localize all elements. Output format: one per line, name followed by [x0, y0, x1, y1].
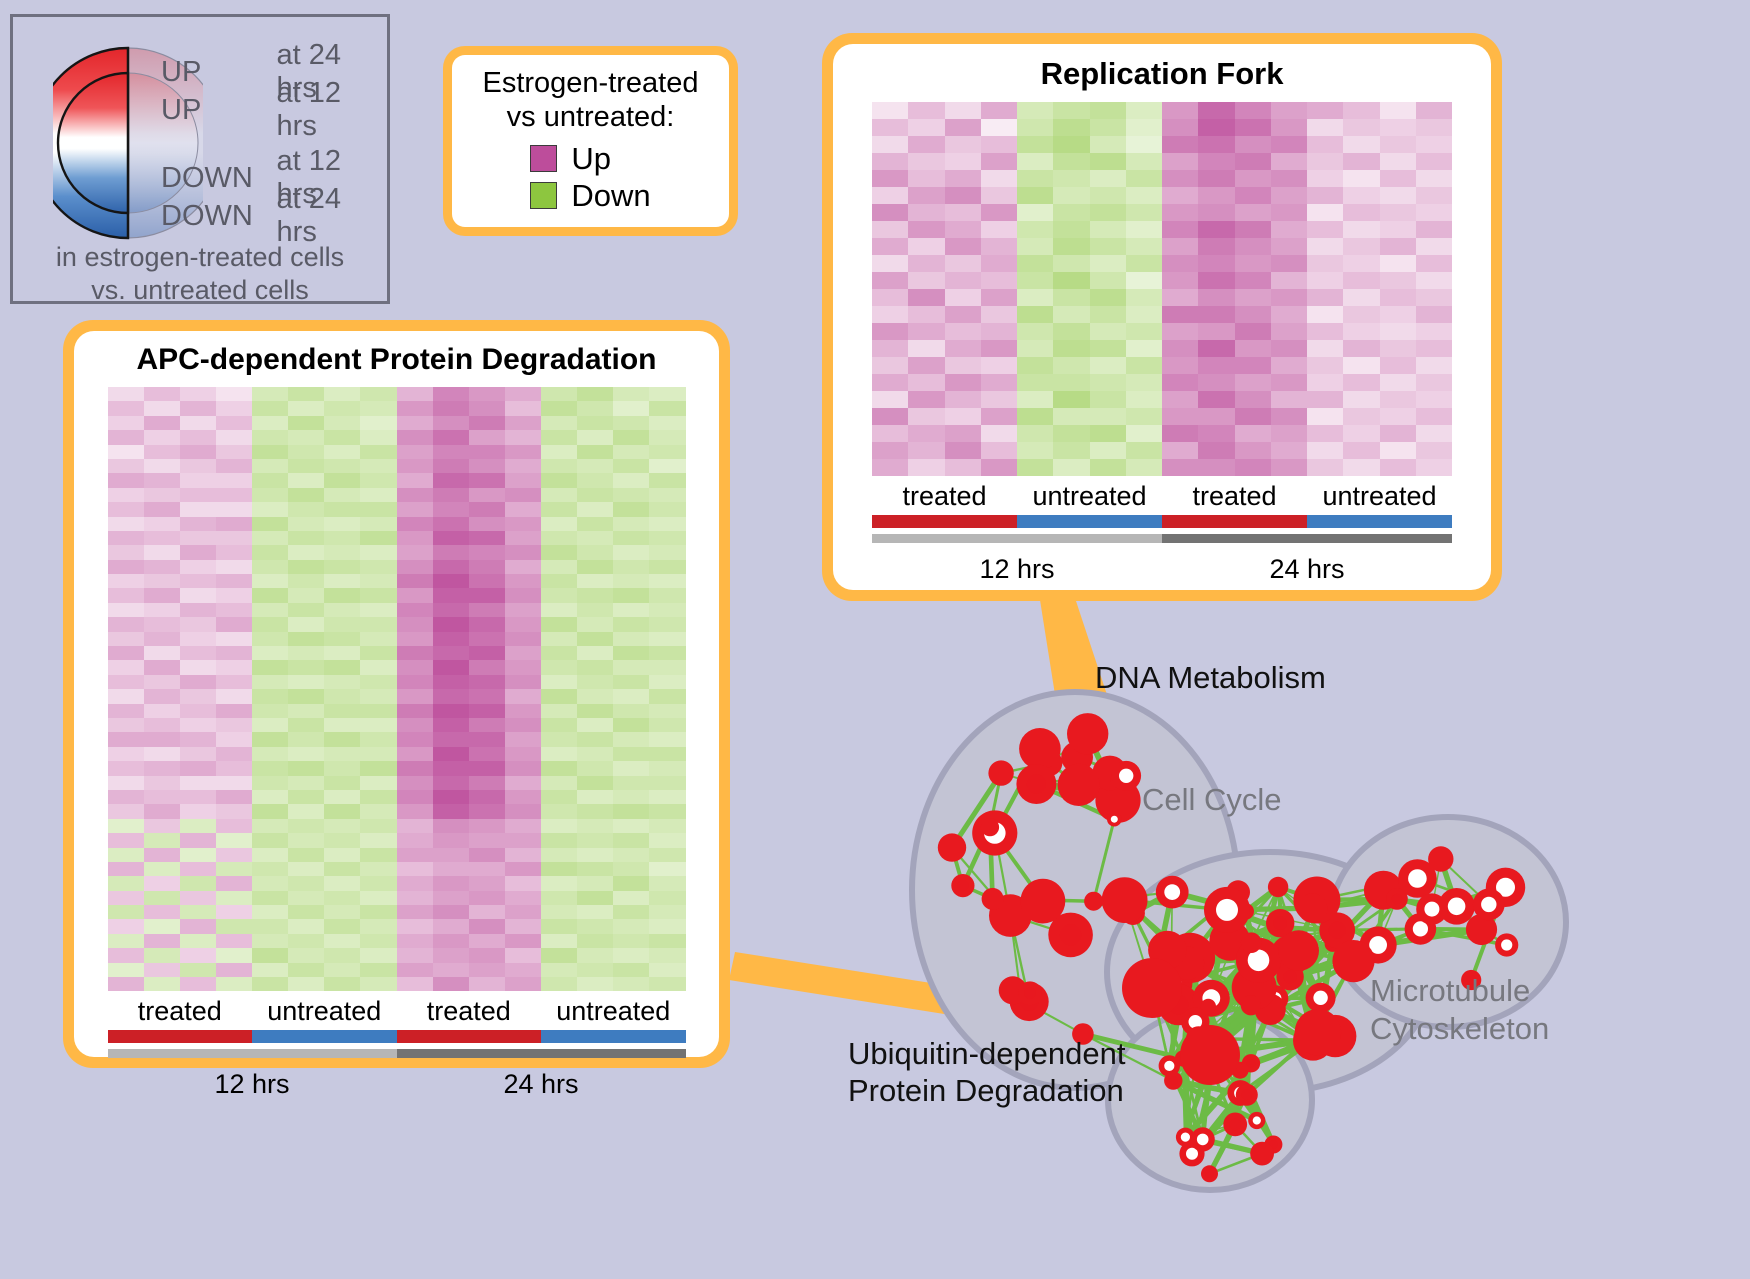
network-node[interactable] [938, 833, 966, 861]
heatmap-cell [469, 459, 505, 473]
network-node[interactable] [1084, 892, 1103, 911]
heatmap-cell [505, 545, 541, 559]
heatmap-cell [1307, 323, 1343, 340]
heatmap-cell [108, 848, 144, 862]
network-node[interactable] [1241, 995, 1261, 1015]
heatmap-cell [649, 804, 685, 818]
heatmap-cell [360, 732, 396, 746]
heatmap-cell [1198, 306, 1234, 323]
heatmap-cell [505, 977, 541, 991]
heatmap-cell [433, 603, 469, 617]
heatmap-cell [144, 977, 180, 991]
heatmap-cell [216, 963, 252, 977]
network-node[interactable] [1250, 1142, 1274, 1166]
heatmap-cell [1053, 255, 1089, 272]
heatmap-cell [541, 632, 577, 646]
heatmap-cell [360, 718, 396, 732]
heatmap-cell [469, 977, 505, 991]
heatmap-cell [1416, 391, 1452, 408]
heatmap-cell [1416, 408, 1452, 425]
heatmap-cell [577, 963, 613, 977]
heatmap-cell [613, 862, 649, 876]
heatmap-cell [180, 876, 216, 890]
heatmap-cell [613, 761, 649, 775]
heatmap-cell [324, 790, 360, 804]
heatmap-cell [397, 963, 433, 977]
heatmap-cell [252, 675, 288, 689]
heatmap-cell [397, 891, 433, 905]
heatmap-cell [1380, 119, 1416, 136]
heatmap-cell [144, 689, 180, 703]
heatmap-cell [397, 804, 433, 818]
heatmap-cell [1198, 170, 1234, 187]
heatmap-cell [541, 387, 577, 401]
heatmap-cell [1017, 204, 1053, 221]
heatmap-cell [1271, 374, 1307, 391]
time-label-row: 12 hrs 24 hrs [108, 1064, 686, 1100]
heatmap-cell [397, 776, 433, 790]
heatmap-cell [360, 488, 396, 502]
heatmap-cell [216, 459, 252, 473]
heatmap-cell [108, 473, 144, 487]
heatmap-cell [108, 732, 144, 746]
heatmap-cell [397, 833, 433, 847]
heatmap-cell [541, 977, 577, 991]
heatmap-cell [1053, 374, 1089, 391]
heatmap-cell [216, 747, 252, 761]
heatmap-cell [1416, 204, 1452, 221]
heatmap-cell [1343, 289, 1379, 306]
heatmap-cell [288, 862, 324, 876]
network-node[interactable] [981, 818, 999, 836]
heatmap-cell [541, 531, 577, 545]
group-bar-treated-24 [397, 1030, 542, 1043]
network-node[interactable] [1102, 877, 1148, 923]
heatmap-cell [649, 934, 685, 948]
network-node[interactable] [982, 888, 1004, 910]
cluster-label-ubiquitin-line2: Protein Degradation [848, 1072, 1126, 1109]
heatmap-cell [1416, 153, 1452, 170]
heatmap-cell [180, 747, 216, 761]
heatmap-cell [469, 517, 505, 531]
heatmap-cell [981, 306, 1017, 323]
heatmap-cell [649, 502, 685, 516]
heatmap-cell [252, 603, 288, 617]
heatmap-cell [649, 905, 685, 919]
heatmap-cell [981, 204, 1017, 221]
heatmap-cell [180, 588, 216, 602]
heatmap-cell [649, 646, 685, 660]
heatmap-cell [1271, 204, 1307, 221]
heatmap-cell [1307, 119, 1343, 136]
heatmap-cell [144, 646, 180, 660]
heatmap-cell [613, 646, 649, 660]
network-node[interactable] [1122, 958, 1182, 1018]
heatmap-cell [541, 675, 577, 689]
heatmap-cell [1343, 306, 1379, 323]
heatmap-cell [433, 977, 469, 991]
network-node-core [1111, 816, 1118, 823]
network-node-core [1313, 991, 1327, 1005]
heatmap-cell [144, 848, 180, 862]
heatmap-cell [1271, 459, 1307, 476]
heatmap-cell [1343, 323, 1379, 340]
heatmap-cell [945, 442, 981, 459]
heatmap-cell [577, 819, 613, 833]
network-node[interactable] [988, 760, 1013, 785]
heatmap-cell [613, 401, 649, 415]
heatmap-cell [324, 632, 360, 646]
heatmap-cell [360, 776, 396, 790]
heatmap-cell [577, 862, 613, 876]
heatmap-cell [216, 934, 252, 948]
heatmap-cell [216, 732, 252, 746]
heatmap-cell [1090, 425, 1126, 442]
heatmap-cell [541, 790, 577, 804]
heatmap-cell [252, 574, 288, 588]
heatmap-cell [397, 459, 433, 473]
heatmap-cell [252, 761, 288, 775]
heatmap-cell [180, 430, 216, 444]
heatmap-cell [108, 876, 144, 890]
heatmap-cell [252, 560, 288, 574]
heatmap-cell [108, 545, 144, 559]
heatmap-cell [288, 761, 324, 775]
heatmap-cell [324, 416, 360, 430]
heatmap-cell [180, 790, 216, 804]
heatmap-cell [1017, 306, 1053, 323]
heatmap-cell [945, 272, 981, 289]
heatmap-cell [1307, 374, 1343, 391]
heatmap-cell [1307, 340, 1343, 357]
heatmap-cell [108, 502, 144, 516]
heatmap-cell [613, 416, 649, 430]
heatmap-cell [1126, 340, 1162, 357]
heatmap-cell [324, 732, 360, 746]
heatmap-cell [577, 545, 613, 559]
group-label-treated-24: treated [397, 991, 542, 1030]
heatmap-cell [324, 704, 360, 718]
heatmap-cell [469, 905, 505, 919]
heatmap-cell [541, 588, 577, 602]
heatmap-cell [108, 675, 144, 689]
heatmap-cell [908, 323, 944, 340]
heatmap-cell [1235, 272, 1271, 289]
heatmap-cell [1053, 204, 1089, 221]
heatmap-cell [577, 517, 613, 531]
heatmap-cell [1126, 391, 1162, 408]
heatmap-cell [144, 617, 180, 631]
group-bar-untreated-12 [252, 1030, 397, 1043]
time-label-24hrs: 24 hrs [397, 1064, 686, 1100]
heatmap-cell [649, 848, 685, 862]
heatmap-cell [216, 473, 252, 487]
panel-replication-fork: Replication Fork treated untreated treat… [822, 33, 1502, 601]
heatmap-cell [613, 445, 649, 459]
colorbar-direction: UP [161, 94, 277, 127]
network-node[interactable] [1278, 930, 1319, 971]
heatmap-cell [433, 588, 469, 602]
heatmap-cell [981, 272, 1017, 289]
heatmap-cell [216, 776, 252, 790]
heatmap-cell [433, 919, 469, 933]
heatmap-cell [397, 761, 433, 775]
heatmap-cell [1343, 459, 1379, 476]
heatmap-cell [1307, 289, 1343, 306]
heatmap-cell [397, 675, 433, 689]
network-node[interactable] [1180, 1025, 1240, 1085]
colorbar-direction: DOWN [161, 200, 277, 233]
heatmap-cell [908, 306, 944, 323]
heatmap-cell [108, 387, 144, 401]
heatmap-cell [397, 387, 433, 401]
heatmap-cell [505, 488, 541, 502]
heatmap-cell [505, 675, 541, 689]
heatmap-cell [216, 905, 252, 919]
heatmap-cell [1271, 238, 1307, 255]
heatmap-cell [981, 323, 1017, 340]
heatmap-cell [1307, 272, 1343, 289]
heatmap-cell [433, 761, 469, 775]
heatmap-cell [613, 776, 649, 790]
heatmap-cell [180, 660, 216, 674]
heatmap-cell [252, 891, 288, 905]
heatmap-cell [945, 238, 981, 255]
heatmap-cell [324, 977, 360, 991]
heatmap-cell [1017, 459, 1053, 476]
heatmap-cell [649, 833, 685, 847]
heatmap-cell [613, 617, 649, 631]
heatmap-cell [252, 588, 288, 602]
heatmap-cell [577, 948, 613, 962]
heatmap-cell [288, 603, 324, 617]
heatmap-cell [433, 545, 469, 559]
heatmap-cell [1198, 357, 1234, 374]
heatmap-cell [1271, 357, 1307, 374]
heatmap-cell [1162, 119, 1198, 136]
heatmap-cell [397, 704, 433, 718]
heatmap-cell [1235, 153, 1271, 170]
heatmap-cell [216, 660, 252, 674]
colorbar-footer-line1: in estrogen-treated cells [13, 241, 387, 274]
network-node-core [1424, 902, 1439, 917]
heatmap-cell [216, 804, 252, 818]
heatmap-cell [1162, 238, 1198, 255]
heatmap-cell [908, 238, 944, 255]
heatmap-cell [288, 430, 324, 444]
network-node[interactable] [1058, 764, 1100, 806]
heatmap-cell [397, 430, 433, 444]
heatmap-cell [433, 646, 469, 660]
heatmap-cell [505, 776, 541, 790]
heatmap-cell [433, 718, 469, 732]
heatmap-cell [945, 408, 981, 425]
heatmap-cell [945, 102, 981, 119]
heatmap-cell [1198, 323, 1234, 340]
heatmap-cell [360, 531, 396, 545]
heatmap-cell [360, 905, 396, 919]
updown-legend-items: Up Down [530, 140, 650, 215]
heatmap-cell [945, 391, 981, 408]
heatmap-cell [144, 876, 180, 890]
heatmap-cell [397, 574, 433, 588]
heatmap-cell [144, 919, 180, 933]
heatmap-cell [1162, 357, 1198, 374]
heatmap-cell [180, 689, 216, 703]
heatmap-cell [1126, 221, 1162, 238]
time-bar-12hrs [872, 534, 1162, 543]
heatmap-cell [433, 459, 469, 473]
heatmap-cell [1271, 442, 1307, 459]
network-node[interactable] [1019, 728, 1061, 770]
network-node[interactable] [1067, 713, 1108, 754]
time-label-12hrs: 12 hrs [108, 1064, 397, 1100]
legend-item-down: Down [530, 178, 650, 214]
heatmap-cell [324, 804, 360, 818]
heatmap-cell [1126, 323, 1162, 340]
heatmap-cell [144, 891, 180, 905]
heatmap-cell [252, 545, 288, 559]
network-node[interactable] [1241, 932, 1262, 953]
network-node-core [1413, 921, 1428, 936]
colorbar-legend-rows: UP at 24 hrs UP at 12 hrs DOWN at 12 hrs… [161, 53, 387, 235]
heatmap-cell [649, 488, 685, 502]
heatmap-cell [613, 531, 649, 545]
heatmap-cell [1017, 170, 1053, 187]
heatmap-cell [433, 416, 469, 430]
heatmap-cell [108, 517, 144, 531]
heatmap-cell [397, 689, 433, 703]
heatmap-cell [1126, 272, 1162, 289]
network-node[interactable] [1295, 1009, 1341, 1055]
heatmap-cell [252, 531, 288, 545]
heatmap-cell [1053, 238, 1089, 255]
heatmap-cell [1235, 204, 1271, 221]
heatmap-cell [433, 862, 469, 876]
heatmap-cell [360, 819, 396, 833]
heatmap-cell [1090, 170, 1126, 187]
heatmap-cell [541, 617, 577, 631]
heatmap-cell [252, 790, 288, 804]
heatmap-cell [1307, 425, 1343, 442]
heatmap-cell [505, 761, 541, 775]
heatmap-cell [288, 704, 324, 718]
heatmap-cell [1198, 459, 1234, 476]
heatmap-cell [1090, 408, 1126, 425]
group-label-untreated-12: untreated [1017, 476, 1162, 515]
heatmap-cell [1343, 170, 1379, 187]
heatmap-cell [505, 459, 541, 473]
heatmap-cell [144, 761, 180, 775]
heatmap-cell [577, 617, 613, 631]
heatmap-cell [469, 603, 505, 617]
heatmap-cell [1380, 238, 1416, 255]
heatmap-cell [1307, 221, 1343, 238]
heatmap-cell [577, 732, 613, 746]
heatmap-cell [872, 408, 908, 425]
heatmap-cell [981, 238, 1017, 255]
heatmap-cell [360, 761, 396, 775]
network-node[interactable] [1332, 940, 1374, 982]
heatmap-cell [216, 819, 252, 833]
heatmap-cell [1017, 238, 1053, 255]
group-bar-treated-12 [108, 1030, 253, 1043]
heatmap-cell [1053, 408, 1089, 425]
heatmap-cell [252, 934, 288, 948]
heatmap-cell [108, 488, 144, 502]
heatmap-cell [324, 963, 360, 977]
heatmap-cell [360, 876, 396, 890]
network-node[interactable] [1021, 879, 1066, 924]
heatmap-cell [144, 459, 180, 473]
network-node[interactable] [1268, 877, 1288, 897]
heatmap-cell [1343, 102, 1379, 119]
heatmap-cell [541, 660, 577, 674]
heatmap-cell [144, 934, 180, 948]
heatmap-cell [433, 675, 469, 689]
heatmap-cell [108, 761, 144, 775]
heatmap-cell [360, 574, 396, 588]
heatmap-cell [945, 221, 981, 238]
heatmap-cell [541, 445, 577, 459]
heatmap-cell [1235, 136, 1271, 153]
heatmap-cell [649, 430, 685, 444]
heatmap-cell [541, 646, 577, 660]
heatmap-cell [908, 170, 944, 187]
heatmap-cell [108, 963, 144, 977]
group-label-row: treated untreated treated untreated [108, 991, 686, 1030]
heatmap-cell [1380, 221, 1416, 238]
network-node-core [1164, 1061, 1174, 1071]
heatmap-cell [252, 617, 288, 631]
heatmap-cell [216, 416, 252, 430]
heatmap-cell [577, 502, 613, 516]
heatmap-cell [1162, 289, 1198, 306]
heatmap-cell [324, 473, 360, 487]
heatmap-cell [433, 876, 469, 890]
heatmap-cell [108, 632, 144, 646]
network-node[interactable] [1298, 893, 1328, 923]
heatmap-cell [252, 646, 288, 660]
heatmap-cell [649, 948, 685, 962]
heatmap-cell [1126, 374, 1162, 391]
heatmap-cell [324, 430, 360, 444]
colorbar-time: at 24 hrs [277, 183, 387, 249]
heatmap-cell [577, 934, 613, 948]
heatmap-cell [1307, 255, 1343, 272]
heatmap-cell [252, 718, 288, 732]
heatmap-cell [397, 517, 433, 531]
heatmap-cell [288, 517, 324, 531]
heatmap-cell [1380, 442, 1416, 459]
heatmap-cell [397, 934, 433, 948]
heatmap-cell [252, 876, 288, 890]
network-node-core [1329, 922, 1346, 939]
heatmap-cell [469, 430, 505, 444]
heatmap-cell [908, 459, 944, 476]
heatmap-cell [469, 660, 505, 674]
heatmap-cell [433, 704, 469, 718]
heatmap-cell [649, 790, 685, 804]
heatmap-cell [1162, 102, 1198, 119]
heatmap-cell [144, 963, 180, 977]
heatmap-cell [1271, 255, 1307, 272]
heatmap-cell [1017, 255, 1053, 272]
heatmap-cell [144, 473, 180, 487]
heatmap-cell [288, 934, 324, 948]
heatmap-cell [1380, 153, 1416, 170]
heatmap-cell [1307, 408, 1343, 425]
